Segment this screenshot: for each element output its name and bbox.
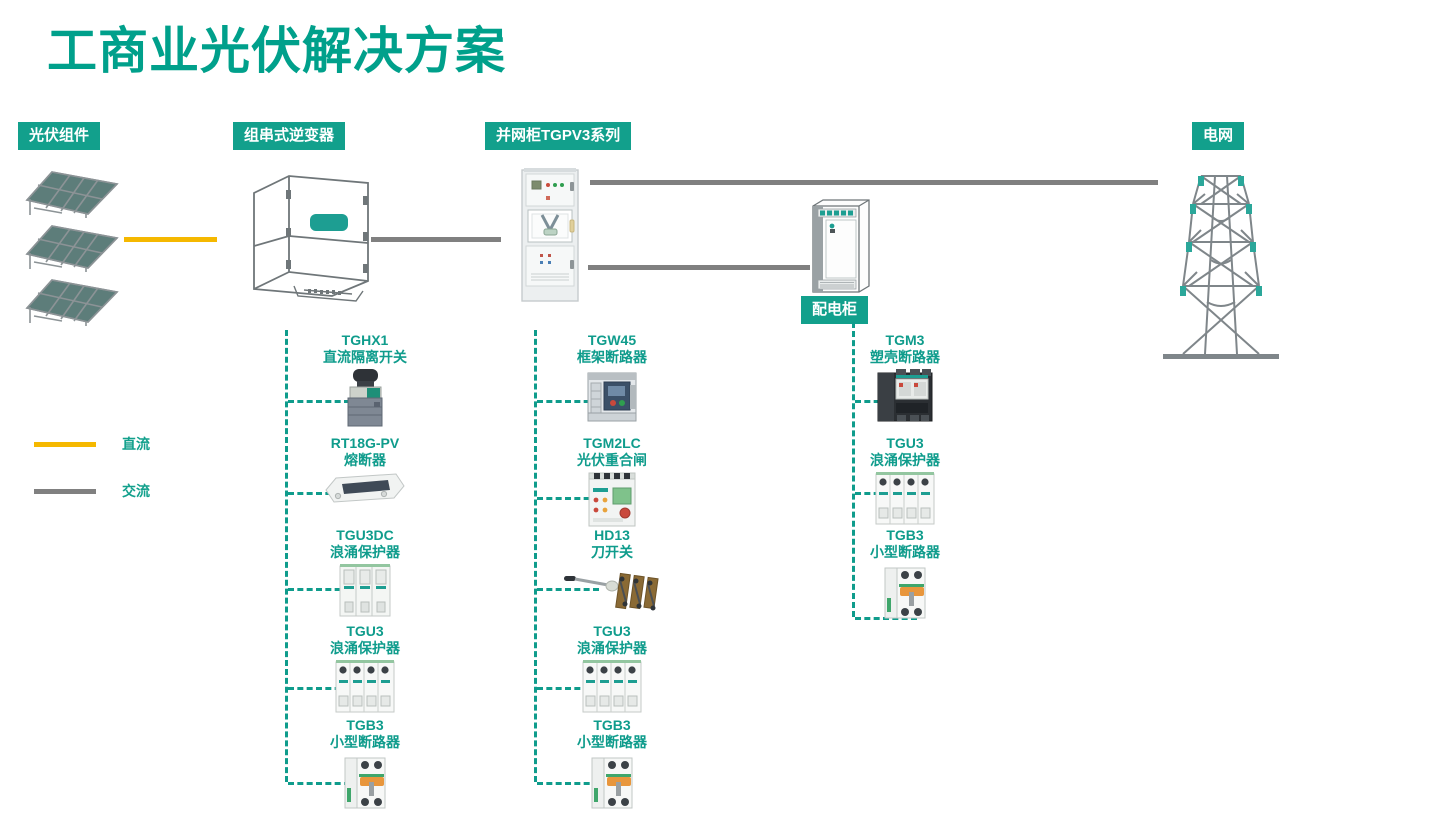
product-item[interactable]: TGHX1 直流隔离开关 bbox=[270, 332, 460, 429]
legend-item-ac: 交流 bbox=[34, 481, 150, 501]
product-desc: 光伏重合闸 bbox=[517, 452, 707, 469]
surge-protector-4p-icon bbox=[517, 658, 707, 720]
legend-swatch-dc bbox=[34, 442, 96, 447]
pv-panel-array-2 bbox=[22, 222, 122, 274]
miniature-circuit-breaker-icon bbox=[270, 752, 460, 814]
product-code: TGU3 bbox=[270, 623, 460, 640]
legend-item-dc: 直流 bbox=[34, 434, 150, 454]
diagram-canvas: 工商业光伏解决方案 光伏组件 组串式逆变器 并网柜TGPV3系列 电网 配电柜 bbox=[0, 0, 1436, 829]
surge-protector-4p-icon bbox=[810, 470, 1000, 532]
product-item[interactable]: TGU3 浪涌保护器 bbox=[517, 623, 707, 720]
product-desc: 小型断路器 bbox=[810, 544, 1000, 561]
surge-protector-4p-icon bbox=[270, 658, 460, 720]
product-desc: 浪涌保护器 bbox=[810, 452, 1000, 469]
grid-connection-cabinet-device bbox=[520, 168, 580, 303]
legend-label-dc: 直流 bbox=[122, 434, 150, 454]
ac-flow-line-inverter-to-grid-cabinet bbox=[371, 237, 501, 242]
product-desc: 塑壳断路器 bbox=[810, 349, 1000, 366]
air-circuit-breaker-icon bbox=[517, 367, 707, 429]
product-code: RT18G-PV bbox=[270, 435, 460, 452]
product-item[interactable]: TGB3 小型断路器 bbox=[810, 527, 1000, 624]
page-title: 工商业光伏解决方案 bbox=[47, 22, 506, 80]
dc-isolator-switch-icon bbox=[270, 367, 460, 429]
product-code: TGM3 bbox=[810, 332, 1000, 349]
ac-flow-line-grid-cabinet-to-power-grid bbox=[590, 180, 1158, 185]
product-desc: 小型断路器 bbox=[270, 734, 460, 751]
moulded-case-circuit-breaker-icon bbox=[810, 367, 1000, 429]
product-item[interactable]: TGU3 浪涌保护器 bbox=[810, 435, 1000, 532]
stage-chip-power-grid[interactable]: 电网 bbox=[1192, 122, 1244, 150]
product-item[interactable]: TGU3 浪涌保护器 bbox=[270, 623, 460, 720]
transmission-tower bbox=[1157, 168, 1285, 360]
product-code: TGU3DC bbox=[270, 527, 460, 544]
string-inverter-device bbox=[232, 168, 374, 303]
product-item[interactable]: TGM3 塑壳断路器 bbox=[810, 332, 1000, 429]
product-desc: 小型断路器 bbox=[517, 734, 707, 751]
product-item[interactable]: TGB3 小型断路器 bbox=[517, 717, 707, 814]
fuse-holder-icon bbox=[270, 470, 460, 532]
miniature-circuit-breaker-icon bbox=[810, 562, 1000, 624]
surge-protector-dc-icon bbox=[270, 562, 460, 624]
stage-chip-inverter[interactable]: 组串式逆变器 bbox=[233, 122, 345, 150]
product-code: TGW45 bbox=[517, 332, 707, 349]
product-code: TGU3 bbox=[810, 435, 1000, 452]
product-item[interactable]: RT18G-PV 熔断器 bbox=[270, 435, 460, 532]
pv-recloser-icon bbox=[517, 470, 707, 532]
ac-flow-line-grid-cabinet-to-distribution-cabinet bbox=[588, 265, 810, 270]
product-desc: 框架断路器 bbox=[517, 349, 707, 366]
stage-chip-distribution-cabinet[interactable]: 配电柜 bbox=[801, 296, 868, 324]
product-code: TGB3 bbox=[810, 527, 1000, 544]
product-item[interactable]: TGB3 小型断路器 bbox=[270, 717, 460, 814]
product-desc: 浪涌保护器 bbox=[270, 544, 460, 561]
product-desc: 浪涌保护器 bbox=[270, 640, 460, 657]
dc-flow-line-panels-to-inverter bbox=[124, 237, 217, 242]
product-desc: 熔断器 bbox=[270, 452, 460, 469]
pv-panel-array-3 bbox=[22, 276, 122, 328]
stage-chip-pv-modules[interactable]: 光伏组件 bbox=[18, 122, 100, 150]
product-item[interactable]: TGW45 框架断路器 bbox=[517, 332, 707, 429]
product-code: TGHX1 bbox=[270, 332, 460, 349]
product-item[interactable]: HD13 刀开关 bbox=[517, 527, 707, 624]
stage-chip-grid-cabinet[interactable]: 并网柜TGPV3系列 bbox=[485, 122, 631, 150]
product-item[interactable]: TGU3DC 浪涌保护器 bbox=[270, 527, 460, 624]
product-desc: 直流隔离开关 bbox=[270, 349, 460, 366]
product-code: TGU3 bbox=[517, 623, 707, 640]
legend-swatch-ac bbox=[34, 489, 96, 494]
product-code: TGM2LC bbox=[517, 435, 707, 452]
knife-switch-icon bbox=[517, 562, 707, 624]
legend-label-ac: 交流 bbox=[122, 481, 150, 501]
product-code: HD13 bbox=[517, 527, 707, 544]
product-code: TGB3 bbox=[517, 717, 707, 734]
product-code: TGB3 bbox=[270, 717, 460, 734]
product-desc: 刀开关 bbox=[517, 544, 707, 561]
product-desc: 浪涌保护器 bbox=[517, 640, 707, 657]
distribution-cabinet-device bbox=[811, 198, 871, 294]
miniature-circuit-breaker-icon bbox=[517, 752, 707, 814]
pv-panel-array-1 bbox=[22, 168, 122, 220]
product-item[interactable]: TGM2LC 光伏重合闸 bbox=[517, 435, 707, 532]
